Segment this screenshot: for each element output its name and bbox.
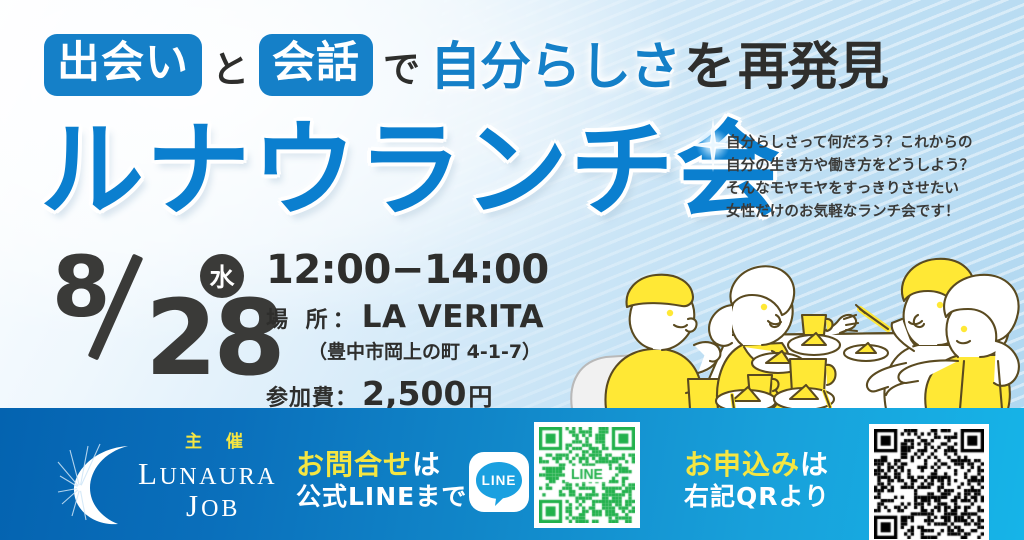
line-bubble-icon: LINE <box>473 456 525 508</box>
event-date: 8 28 水 <box>48 243 288 393</box>
venue-label: 場 所 <box>266 302 333 334</box>
lead-paragraph: 自分らしさって何だろう？これからの 自分の生き方や働き方をどうしよう？ そんなモ… <box>726 132 1006 224</box>
date-weekday-badge: 水 <box>200 254 244 298</box>
headline-badge-meeting: 出会い <box>44 34 202 96</box>
apply-cta-line-2: 右記QRより <box>684 481 830 512</box>
apply-cta-highlight: お申込み <box>684 448 800 481</box>
line-qr-code[interactable] <box>534 422 640 528</box>
logo-l2-rest: OB <box>201 496 240 522</box>
headline-tail: 再発見 <box>738 42 888 93</box>
lead-line-1: 自分らしさって何だろう？これからの <box>726 132 1006 155</box>
event-time: 12:00−14:00 <box>266 250 596 290</box>
line-icon-text: LINE <box>482 473 517 488</box>
venue-colon: ： <box>333 302 360 334</box>
logo-line-1: LUNAURA <box>138 456 277 492</box>
lead-line-2: 自分の生き方や働き方をどうしよう？ <box>726 155 1006 178</box>
contact-cta: お問合せは 公式LINEまで <box>296 448 467 512</box>
host-label: 主 催 <box>185 427 252 452</box>
contact-cta-line-1: お問合せは <box>296 448 467 481</box>
logo-line-2: JOB <box>186 488 240 524</box>
poster-root: 出会い と 会話 で 自分らしさ を 再発見 ルナウランチ会 自分らしさって何だ… <box>0 0 1024 540</box>
headline-conjunction: と <box>206 51 255 88</box>
headline-particle: で <box>377 51 426 88</box>
contact-cta-suffix: は <box>412 448 441 481</box>
date-month: 8 <box>52 245 107 329</box>
logo-l2-cap: J <box>186 488 201 523</box>
fee-currency: 円 <box>468 377 492 412</box>
headline-emphasis: 自分らしさ <box>430 42 680 93</box>
lunaura-job-logo: 主 催 LUNAURA JOB <box>34 424 284 528</box>
apply-qr-code[interactable] <box>869 424 989 540</box>
apply-cta: お申込みは 右記QRより <box>684 448 830 512</box>
venue-row: 場 所 ： LA VERITA <box>266 299 596 335</box>
headline-particle-wo: を <box>684 42 734 93</box>
apply-cta-line-1: お申込みは <box>684 448 830 481</box>
lead-line-3: そんなモヤモヤをすっきりさせたい <box>726 178 1006 201</box>
headline: 出会い と 会話 で 自分らしさ を 再発見 <box>44 33 888 97</box>
line-app-icon[interactable]: LINE <box>469 452 529 512</box>
date-day: 28 <box>145 286 282 390</box>
lead-line-4: 女性だけのお気軽なランチ会です！ <box>726 201 1006 224</box>
event-title: ルナウランチ会 <box>40 118 782 222</box>
logo-l1-rest: UNAURA <box>159 464 277 490</box>
crescent-moon-icon <box>56 442 148 528</box>
venue-address: （豊中市岡上の町 4-1-7） <box>308 337 596 364</box>
contact-cta-highlight: お問合せ <box>296 448 412 481</box>
event-info: 12:00−14:00 場 所 ： LA VERITA （豊中市岡上の町 4-1… <box>266 250 596 413</box>
apply-cta-suffix: は <box>800 448 829 481</box>
headline-badge-conversation: 会話 <box>259 34 373 96</box>
venue-value: LA VERITA <box>362 299 544 335</box>
lunch-illustration <box>566 233 1024 409</box>
logo-l1-cap: L <box>138 456 159 491</box>
contact-cta-line-2: 公式LINEまで <box>296 481 467 512</box>
